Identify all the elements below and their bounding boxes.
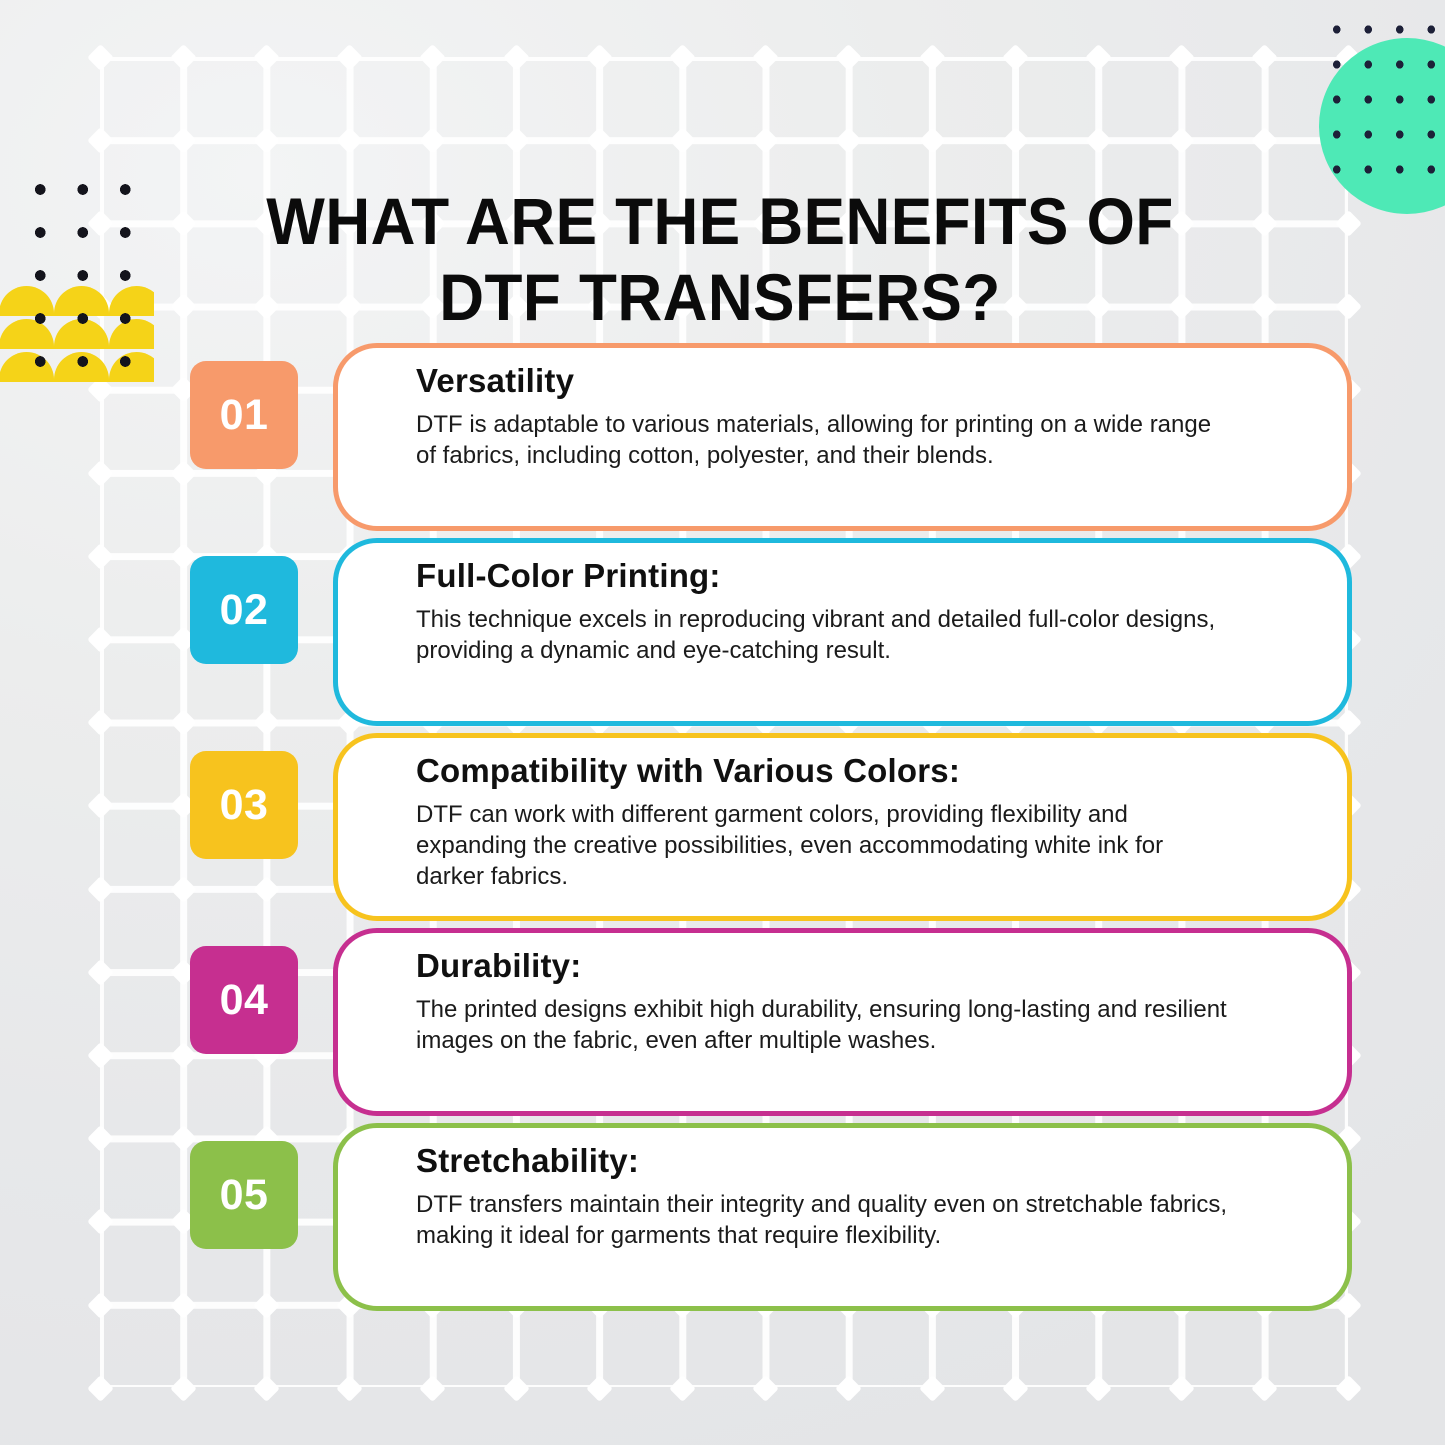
benefit-card: Stretchability:DTF transfers maintain th… xyxy=(333,1123,1352,1311)
grid-joint-diamond xyxy=(1085,44,1112,71)
grid-joint-diamond xyxy=(170,293,197,320)
grid-joint-diamond xyxy=(170,127,197,154)
grid-joint-diamond xyxy=(87,127,114,154)
grid-joint-diamond xyxy=(503,127,530,154)
benefit-item: 02Full-Color Printing:This technique exc… xyxy=(0,533,1445,728)
benefit-card-content: Durability:The printed designs exhibit h… xyxy=(416,949,1313,1101)
benefit-description: DTF is adaptable to various materials, a… xyxy=(416,409,1228,471)
grid-joint-diamond xyxy=(919,127,946,154)
benefit-number-badge: 03 xyxy=(190,751,298,859)
grid-joint-diamond xyxy=(586,127,613,154)
benefit-card: Compatibility with Various Colors:DTF ca… xyxy=(333,733,1352,921)
grid-joint-diamond xyxy=(1002,44,1029,71)
grid-joint-diamond xyxy=(1085,1375,1112,1402)
grid-joint-diamond xyxy=(1002,1375,1029,1402)
grid-joint-diamond xyxy=(1251,293,1278,320)
benefit-card-content: Full-Color Printing:This technique excel… xyxy=(416,559,1313,711)
benefit-number-label: 04 xyxy=(220,976,269,1025)
benefit-heading: Compatibility with Various Colors: xyxy=(416,754,1313,789)
benefit-card-content: Compatibility with Various Colors:DTF ca… xyxy=(416,754,1313,906)
benefit-number-badge: 02 xyxy=(190,556,298,664)
grid-joint-diamond xyxy=(1335,1375,1362,1402)
benefit-card: Durability:The printed designs exhibit h… xyxy=(333,928,1352,1116)
benefit-card-content: Stretchability:DTF transfers maintain th… xyxy=(416,1144,1313,1296)
benefit-card-content: VersatilityDTF is adaptable to various m… xyxy=(416,364,1313,516)
benefit-number-badge: 04 xyxy=(190,946,298,1054)
grid-joint-diamond xyxy=(87,1375,114,1402)
benefit-card: Full-Color Printing:This technique excel… xyxy=(333,538,1352,726)
grid-joint-diamond xyxy=(752,1375,779,1402)
benefit-description: The printed designs exhibit high durabil… xyxy=(416,994,1228,1056)
grid-joint-diamond xyxy=(253,44,280,71)
benefit-card: VersatilityDTF is adaptable to various m… xyxy=(333,343,1352,531)
grid-joint-diamond xyxy=(170,44,197,71)
grid-joint-diamond xyxy=(919,1375,946,1402)
benefit-item: 04Durability:The printed designs exhibit… xyxy=(0,923,1445,1118)
benefit-number-badge: 05 xyxy=(190,1141,298,1249)
grid-joint-diamond xyxy=(503,1375,530,1402)
benefit-description: This technique excels in reproducing vib… xyxy=(416,604,1228,666)
grid-joint-diamond xyxy=(1251,127,1278,154)
grid-joint-diamond xyxy=(170,210,197,237)
grid-joint-diamond xyxy=(1168,44,1195,71)
benefit-item: 01VersatilityDTF is adaptable to various… xyxy=(0,338,1445,533)
grid-joint-diamond xyxy=(669,44,696,71)
grid-joint-diamond xyxy=(1335,293,1362,320)
grid-joint-diamond xyxy=(1085,127,1112,154)
grid-joint-diamond xyxy=(1002,127,1029,154)
grid-joint-diamond xyxy=(419,127,446,154)
grid-joint-diamond xyxy=(1335,210,1362,237)
dot-grid-top-right-icon xyxy=(1315,4,1445,184)
grid-joint-diamond xyxy=(835,44,862,71)
benefit-item: 03Compatibility with Various Colors:DTF … xyxy=(0,728,1445,923)
benefit-list: 01VersatilityDTF is adaptable to various… xyxy=(0,338,1445,1313)
page-title: WHAT ARE THE BENEFITS OF DTF TRANSFERS? xyxy=(208,184,1233,336)
grid-joint-diamond xyxy=(586,44,613,71)
grid-joint-diamond xyxy=(1251,44,1278,71)
grid-joint-diamond xyxy=(919,44,946,71)
grid-joint-diamond xyxy=(1168,127,1195,154)
grid-joint-diamond xyxy=(336,127,363,154)
grid-joint-diamond xyxy=(752,127,779,154)
benefit-number-label: 05 xyxy=(220,1171,269,1220)
grid-joint-diamond xyxy=(170,1375,197,1402)
benefit-heading: Durability: xyxy=(416,949,1313,984)
grid-joint-diamond xyxy=(419,44,446,71)
benefit-number-label: 03 xyxy=(220,781,269,830)
grid-joint-diamond xyxy=(586,1375,613,1402)
grid-joint-diamond xyxy=(253,1375,280,1402)
benefit-heading: Stretchability: xyxy=(416,1144,1313,1179)
grid-joint-diamond xyxy=(752,44,779,71)
grid-joint-diamond xyxy=(1168,1375,1195,1402)
grid-joint-diamond xyxy=(336,1375,363,1402)
grid-joint-diamond xyxy=(503,44,530,71)
grid-joint-diamond xyxy=(835,127,862,154)
grid-joint-diamond xyxy=(835,1375,862,1402)
infographic-poster: WHAT ARE THE BENEFITS OF DTF TRANSFERS? … xyxy=(0,0,1445,1445)
grid-joint-diamond xyxy=(1251,1375,1278,1402)
grid-joint-diamond xyxy=(669,1375,696,1402)
benefit-number-badge: 01 xyxy=(190,361,298,469)
grid-joint-diamond xyxy=(253,127,280,154)
benefit-number-label: 02 xyxy=(220,586,269,635)
benefit-heading: Full-Color Printing: xyxy=(416,559,1313,594)
grid-joint-diamond xyxy=(1251,210,1278,237)
benefit-item: 05Stretchability:DTF transfers maintain … xyxy=(0,1118,1445,1313)
grid-joint-diamond xyxy=(87,44,114,71)
benefit-description: DTF can work with different garment colo… xyxy=(416,799,1228,893)
grid-joint-diamond xyxy=(669,127,696,154)
grid-joint-diamond xyxy=(419,1375,446,1402)
benefit-number-label: 01 xyxy=(220,391,269,440)
grid-joint-diamond xyxy=(336,44,363,71)
benefit-description: DTF transfers maintain their integrity a… xyxy=(416,1189,1228,1251)
benefit-heading: Versatility xyxy=(416,364,1313,399)
